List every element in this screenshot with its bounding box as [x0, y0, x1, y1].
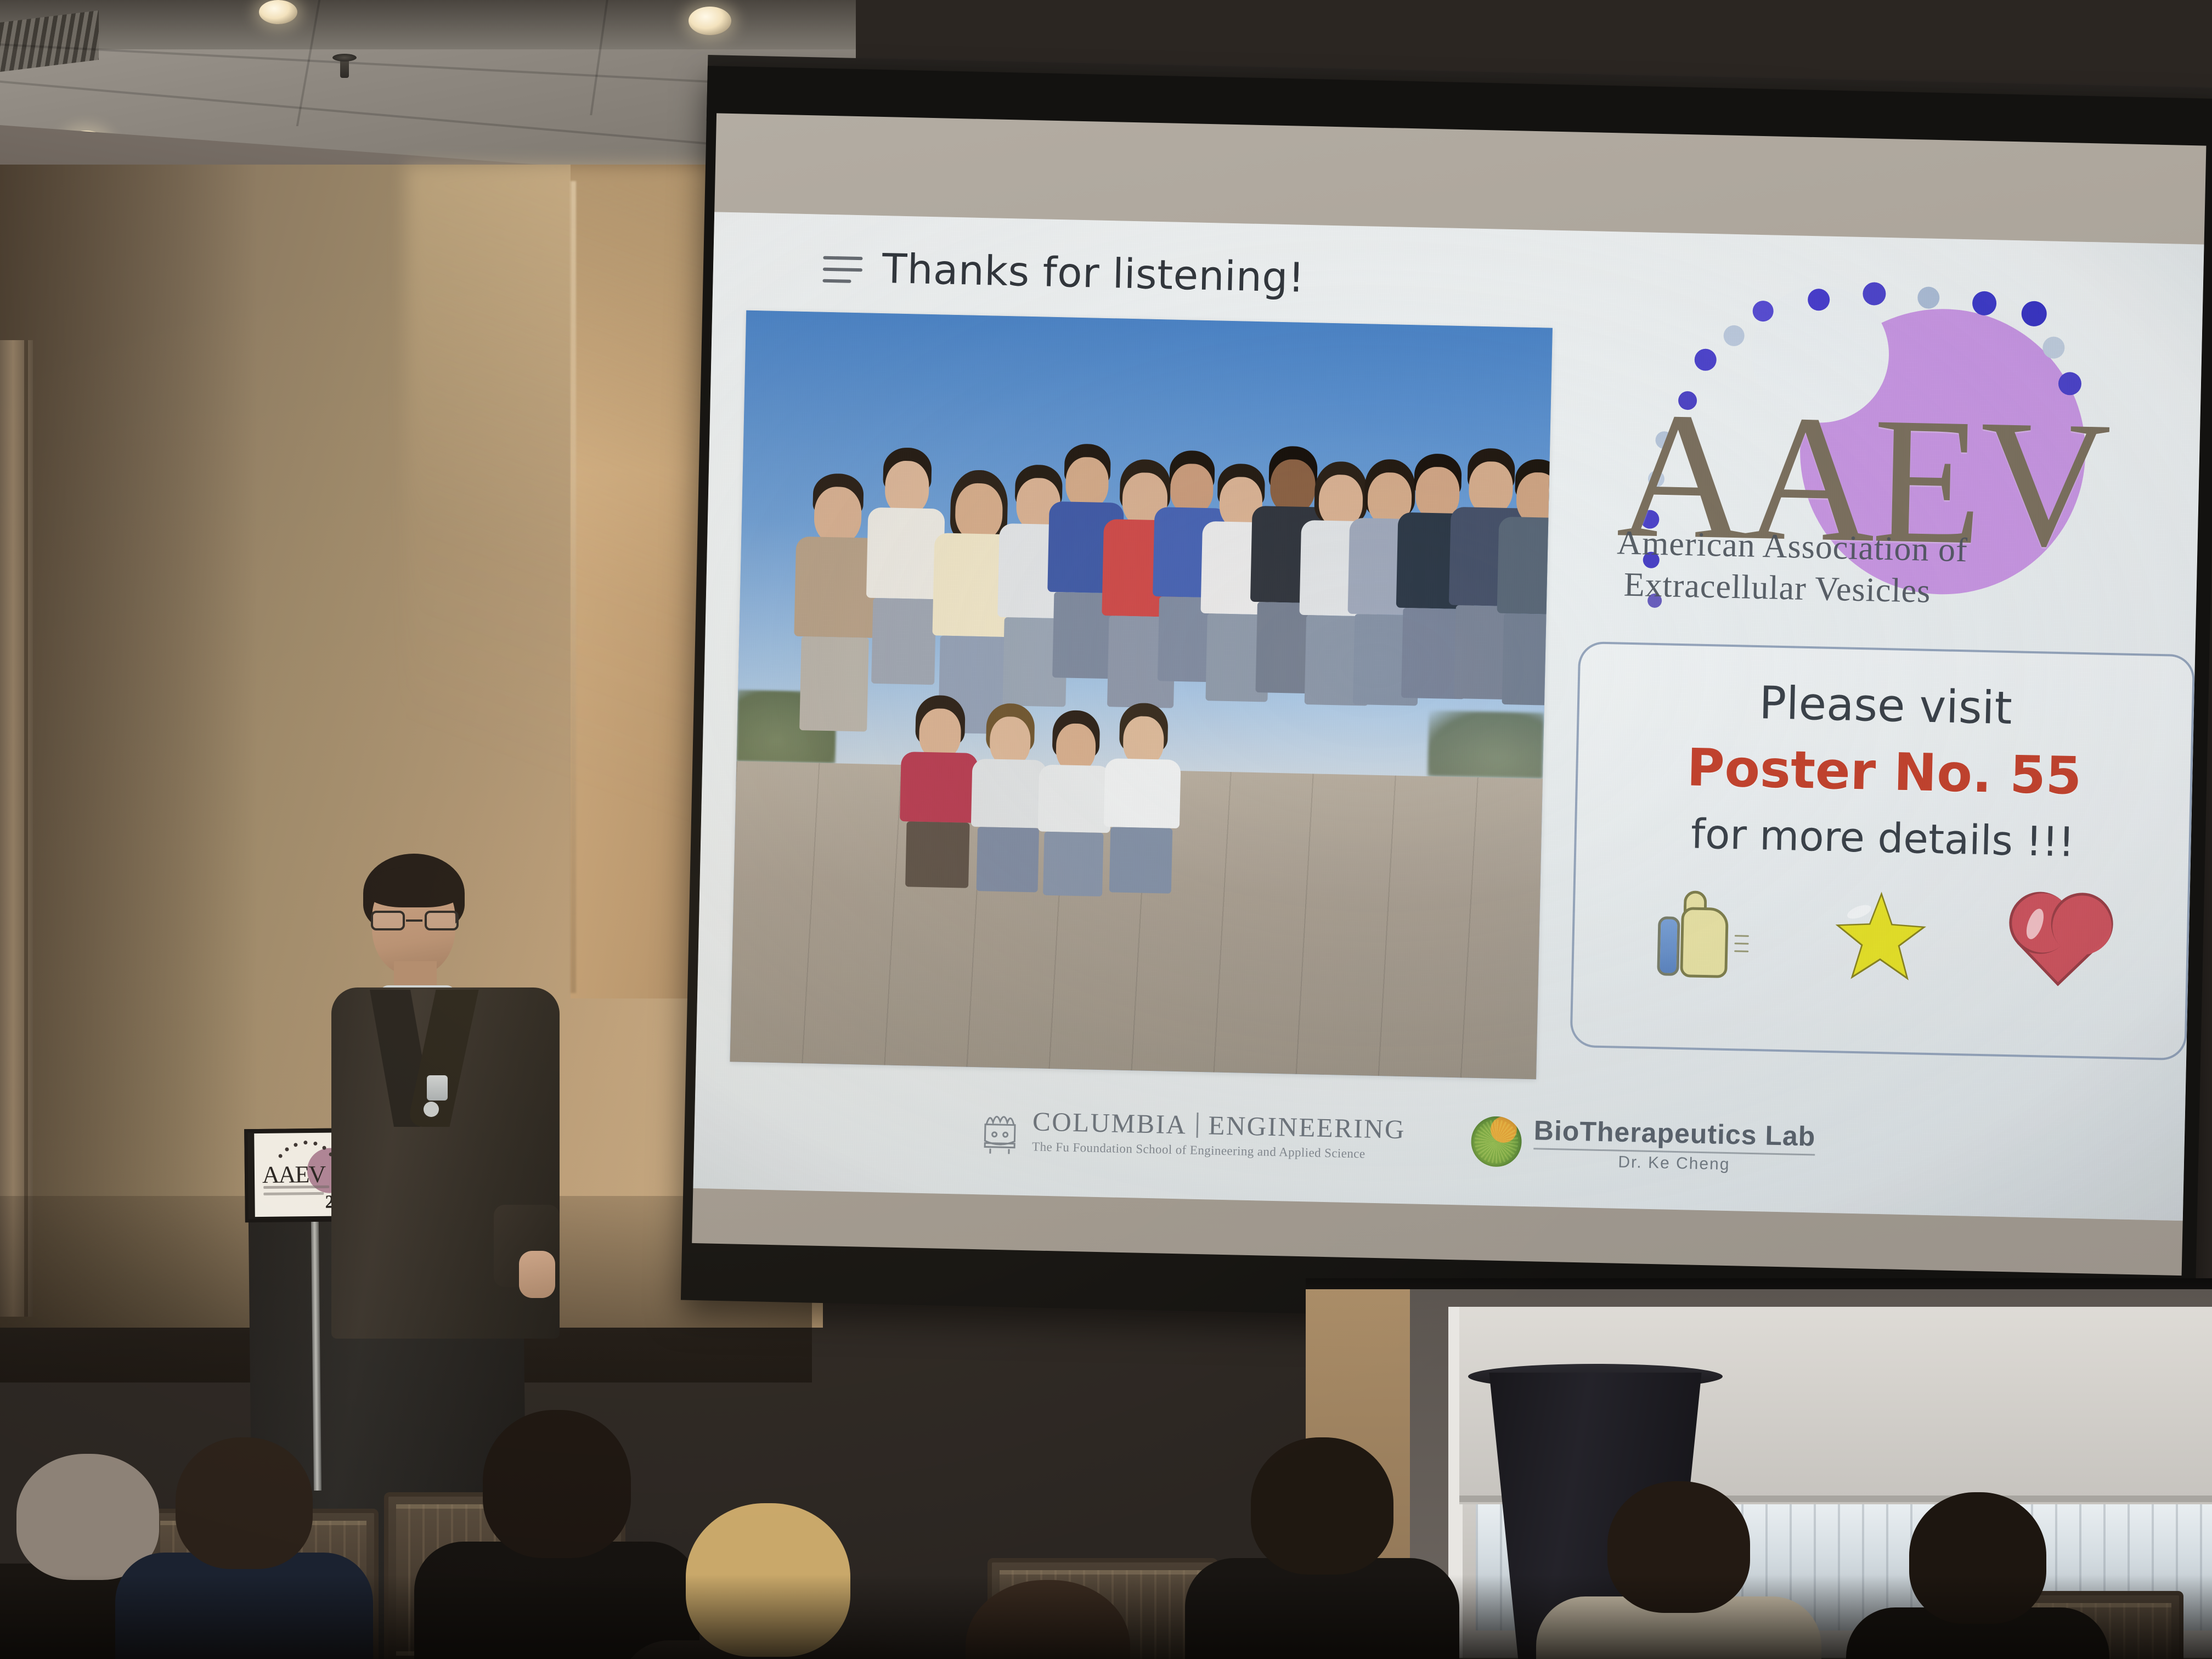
audience-member-head — [1607, 1481, 1750, 1613]
photo-person-legs — [977, 827, 1039, 892]
audience-member-head — [686, 1503, 850, 1657]
audience — [0, 1273, 2212, 1659]
photo-person-legs — [905, 821, 969, 888]
presentation-room-scene: Thanks for listening! — [0, 0, 2212, 1659]
photo-person-head — [955, 483, 1003, 541]
speaker-name-badge — [427, 1075, 448, 1101]
star-icon — [1827, 885, 1934, 991]
thumbs-up-icon — [1649, 881, 1756, 988]
aaev-dot — [1694, 348, 1717, 371]
biotherapeutics-lab-logo: BioTherapeutics Lab Dr. Ke Cheng — [1470, 1113, 1816, 1176]
slide-title: Thanks for listening! — [882, 245, 1305, 302]
audience-member-head — [483, 1410, 631, 1558]
biotherapeutics-title: BioTherapeutics Lab — [1533, 1114, 1816, 1152]
poster-number-highlight: Poster No. 55 — [1577, 736, 2191, 809]
reaction-icons-row — [1573, 879, 2188, 997]
downlight-icon — [689, 7, 731, 35]
photo-person-legs — [1502, 613, 1553, 706]
wall-pillar — [0, 340, 33, 1317]
podium-sign-wordmark: AAEV — [262, 1160, 325, 1189]
photo-person-head — [884, 460, 929, 515]
aaev-dot — [1752, 301, 1774, 322]
poster-callout-box: Please visit Poster No. 55 for more deta… — [1570, 641, 2195, 1060]
aaev-subtitle-line2: Extracellular Vesicles — [1623, 566, 1931, 611]
photo-person-legs — [1109, 827, 1173, 894]
photo-person-torso — [1104, 758, 1181, 828]
columbia-divider — [1197, 1112, 1199, 1137]
aaev-dot — [1723, 325, 1745, 347]
wall-pillar-seam — [24, 340, 28, 1317]
aaev-dot — [1863, 282, 1886, 306]
photo-person — [1494, 462, 1553, 727]
screen-surface: Thanks for listening! — [692, 113, 2206, 1276]
speaker-fringe — [365, 867, 463, 907]
heart-icon — [2006, 889, 2112, 995]
photo-person-legs — [799, 636, 869, 731]
cell-logo-icon — [1470, 1115, 1522, 1167]
biotherapeutics-subtitle: Dr. Ke Cheng — [1618, 1153, 1730, 1174]
slide-content: Thanks for listening! — [693, 212, 2204, 1221]
speaker-badge-clip — [424, 1102, 439, 1117]
aaev-logo: AAEV American Association of Extracellul… — [1582, 265, 2203, 618]
photo-person-legs — [1043, 832, 1104, 896]
hamburger-icon — [822, 253, 862, 284]
photo-person-legs — [871, 598, 936, 685]
wall-corner-edge — [571, 181, 576, 993]
aaev-dot — [1972, 291, 1997, 315]
audience-member-head — [176, 1437, 313, 1569]
aaev-subtitle-line1: American Association of — [1617, 523, 1968, 570]
audience-member-head — [1909, 1492, 2046, 1624]
poster-callout-line3: for more details !!! — [1576, 808, 2190, 868]
aaev-dot — [1808, 289, 1830, 311]
slide-footer-logos: COLUMBIA ENGINEERING The Fu Foundation S… — [979, 1102, 1816, 1176]
projected-slide: Thanks for listening! — [693, 212, 2204, 1221]
aaev-dot — [1917, 286, 1940, 309]
downlight-icon — [259, 0, 297, 24]
columbia-line1: COLUMBIA ENGINEERING — [1032, 1105, 1406, 1145]
screen-frame: Thanks for listening! — [681, 66, 2212, 1333]
slide-title-row: Thanks for listening! — [822, 244, 1305, 302]
columbia-wordmark: COLUMBIA — [1032, 1105, 1188, 1140]
photo-person — [898, 698, 979, 913]
podium-sign-subtitle-bar — [263, 1192, 324, 1195]
engineering-wordmark: ENGINEERING — [1208, 1109, 1406, 1145]
columbia-crown-icon — [979, 1102, 1021, 1156]
aaev-dot — [2021, 301, 2047, 326]
photo-person-torso — [900, 752, 978, 823]
columbia-engineering-logo: COLUMBIA ENGINEERING The Fu Foundation S… — [979, 1102, 1406, 1164]
audience-member-head — [1251, 1437, 1393, 1575]
photo-person — [1102, 706, 1182, 920]
photo-person-head — [814, 486, 862, 544]
columbia-text: COLUMBIA ENGINEERING The Fu Foundation S… — [1032, 1105, 1406, 1162]
photo-person-torso — [1497, 517, 1553, 615]
glasses-icon — [370, 911, 460, 930]
biotherapeutics-text: BioTherapeutics Lab Dr. Ke Cheng — [1533, 1114, 1816, 1176]
poster-callout-line1: Please visit — [1579, 673, 2192, 738]
photo-person — [1036, 713, 1113, 924]
group-photo — [730, 311, 1553, 1080]
photo-person-torso — [971, 759, 1047, 828]
sprinkler-icon — [340, 59, 349, 78]
projection-screen-assembly: Thanks for listening! — [680, 66, 2212, 1377]
photo-person-torso — [1038, 764, 1112, 833]
aaev-dot — [2042, 336, 2065, 359]
